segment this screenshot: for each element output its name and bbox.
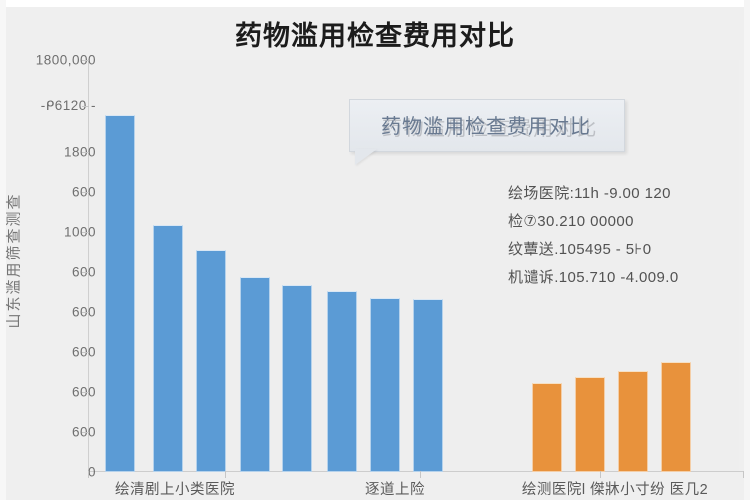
annotation-line: 检⑦30.210 00000 xyxy=(508,208,746,236)
annotation-line: 机谴诉.105.710 -4.009.0 xyxy=(508,264,746,292)
x-tick-mark xyxy=(600,471,601,478)
x-tick-label: 绘测医院l 傑牀小寸纷 医几2 xyxy=(522,478,708,499)
bar[interactable] xyxy=(196,250,226,472)
bar[interactable] xyxy=(327,291,357,472)
annotation-line: 纹蕈送.105495 - 5⊦0 xyxy=(508,236,746,264)
page-title: 药物滥用检查费用对比 xyxy=(0,14,750,53)
callout-text: 药物滥用检查费用对比 xyxy=(349,110,623,139)
bar[interactable] xyxy=(370,298,400,472)
bar[interactable] xyxy=(532,383,562,472)
x-tick-mark xyxy=(225,471,226,478)
x-tick-mark xyxy=(420,471,421,478)
annotation-block: 绘场医院:11h -9.00 120检⑦30.210 00000纹蕈送.1054… xyxy=(508,180,746,292)
bar[interactable] xyxy=(282,285,312,472)
bar[interactable] xyxy=(413,299,443,472)
bar[interactable] xyxy=(105,115,135,472)
bar[interactable] xyxy=(661,362,691,472)
bar[interactable] xyxy=(575,377,605,472)
chart-screenshot: 药物滥用检查费用对比 1800,000-ᑭ6120 -1800600100060… xyxy=(0,0,750,500)
y-axis-title: 山东滥用筛查测查 xyxy=(3,209,24,329)
top-white-band xyxy=(0,0,750,7)
x-tick-label: 绘清剧上小类医院 xyxy=(115,478,235,499)
x-tick-mark xyxy=(88,471,89,478)
bar[interactable] xyxy=(618,371,648,472)
callout-tail xyxy=(355,149,377,165)
x-tick-label: 逐道上险 xyxy=(365,478,425,499)
bar[interactable] xyxy=(153,225,183,472)
x-tick-mark xyxy=(743,471,744,478)
bar[interactable] xyxy=(240,277,270,472)
annotation-line: 绘场医院:11h -9.00 120 xyxy=(508,180,746,208)
